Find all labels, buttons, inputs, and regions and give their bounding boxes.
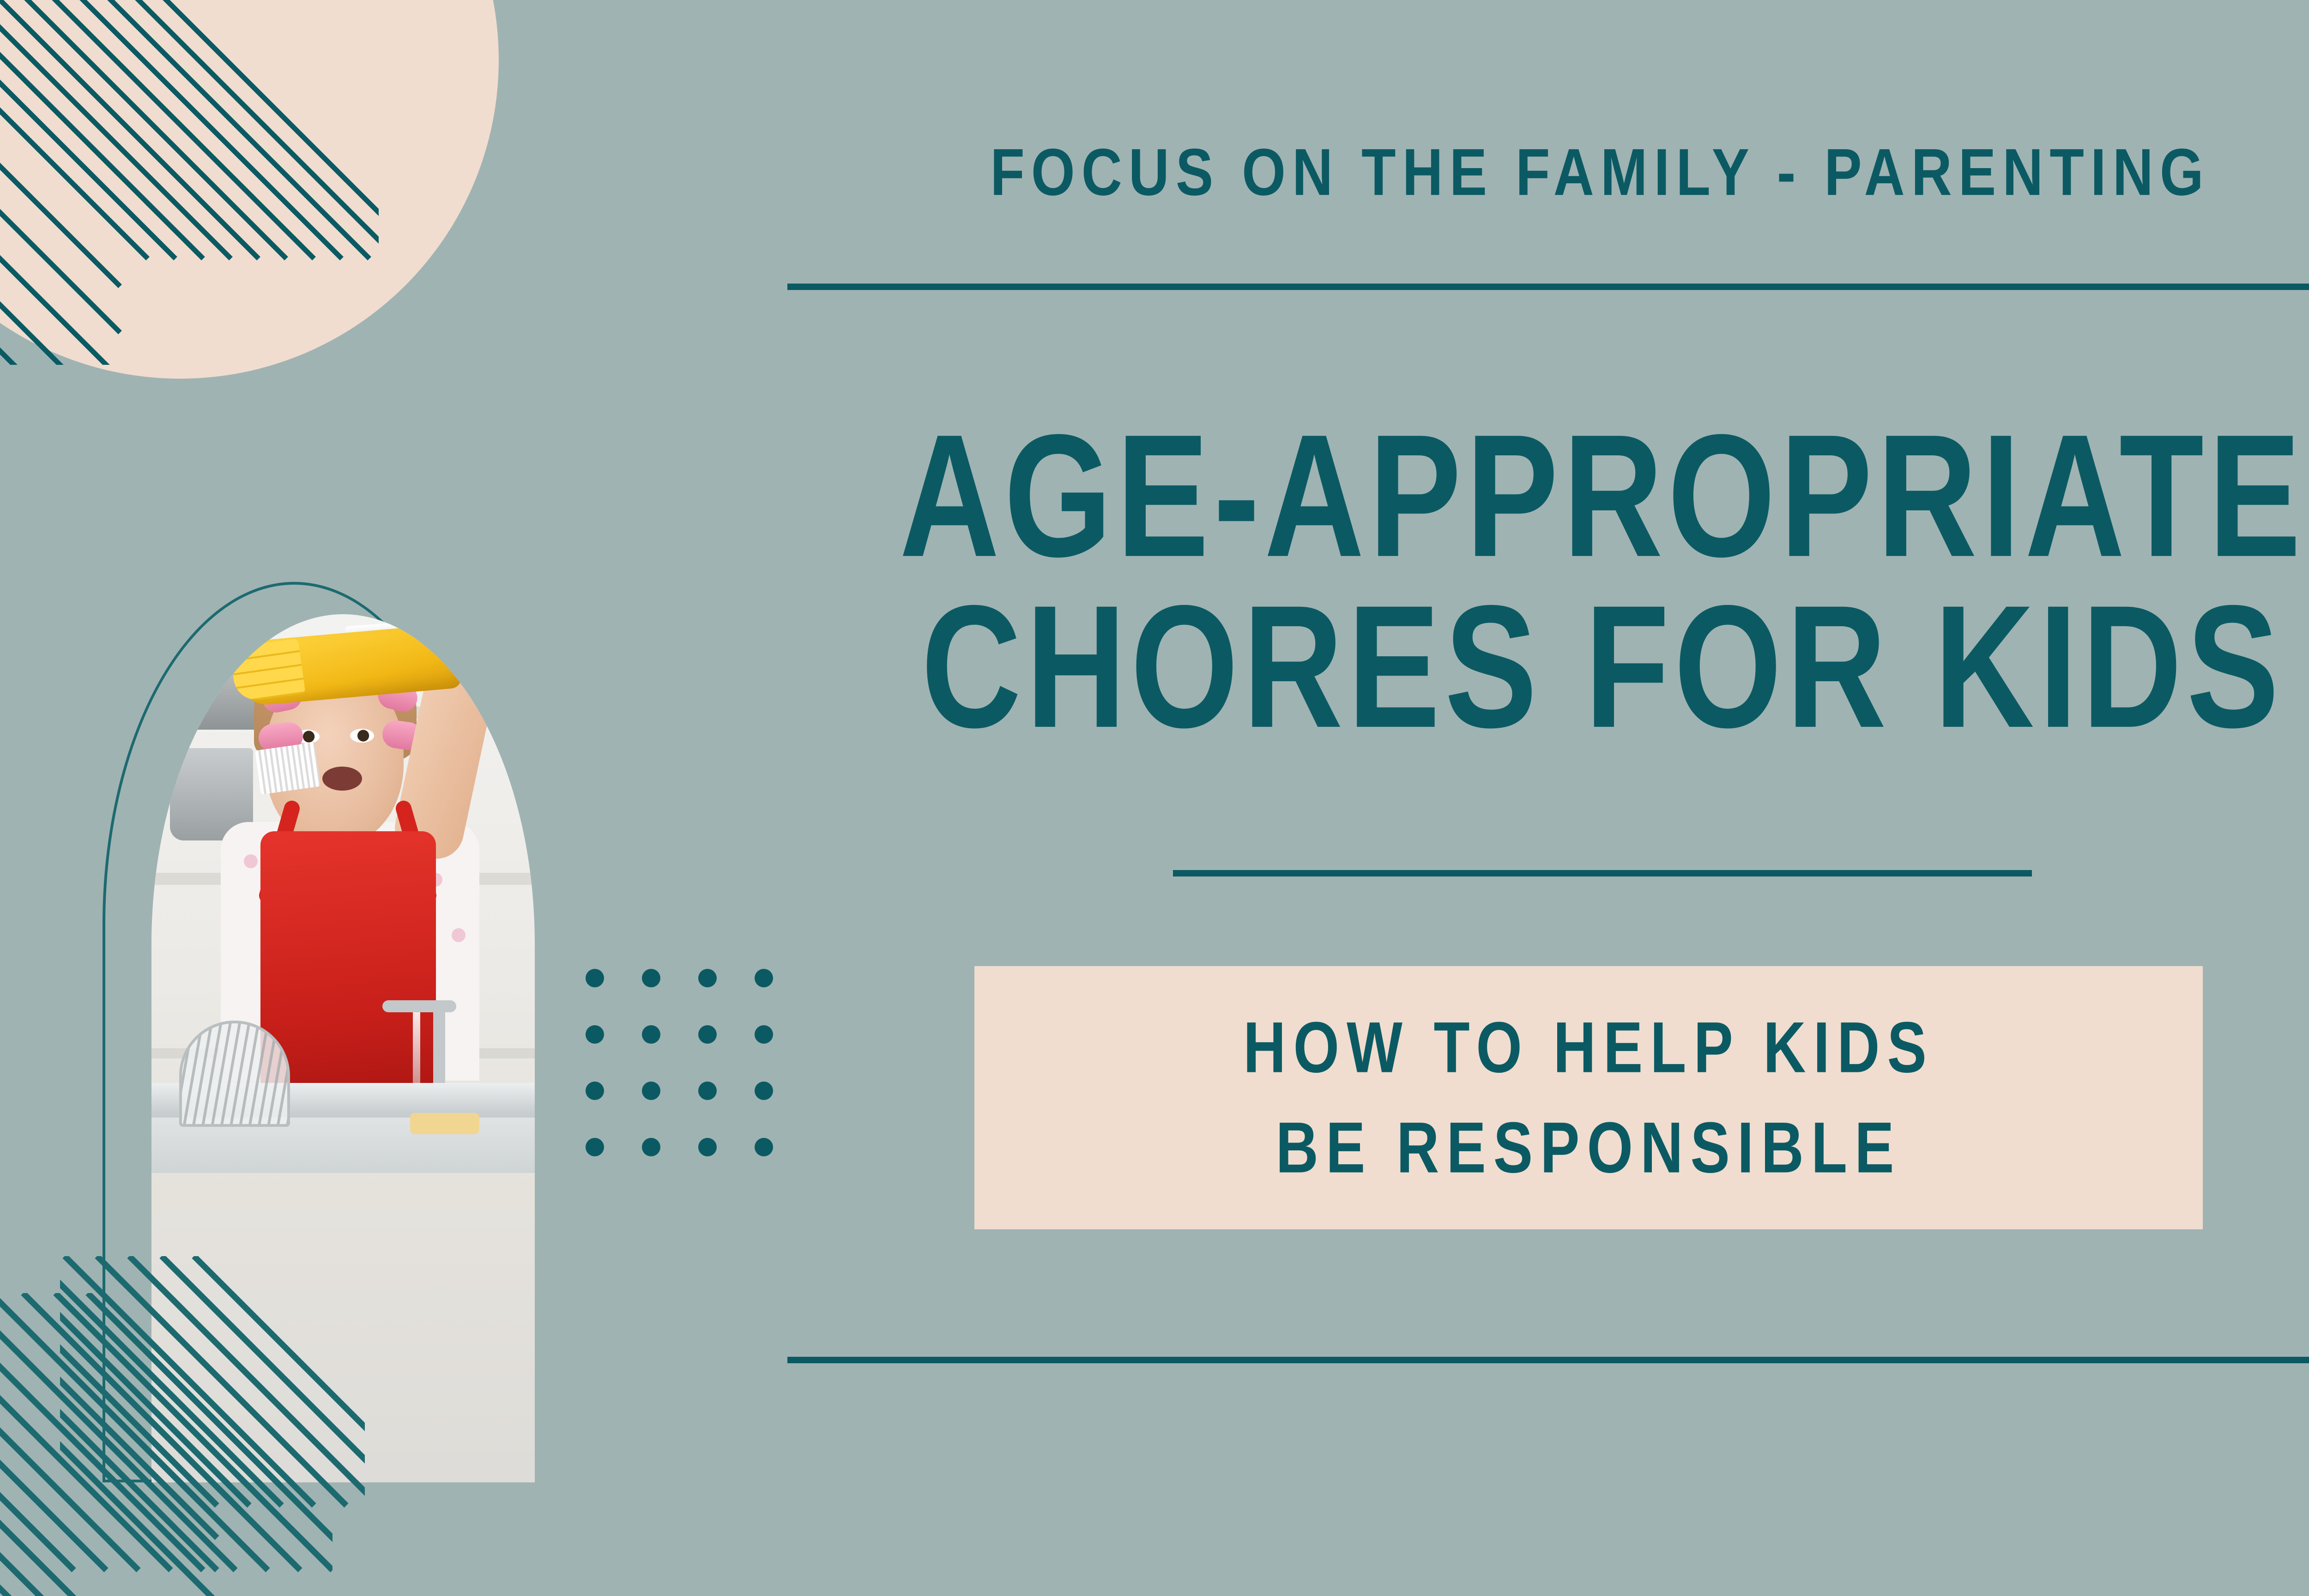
page-title-line-2: CHORES FOR KIDS (739, 577, 2309, 756)
dot (755, 1025, 773, 1044)
dot (698, 1138, 717, 1156)
dot (698, 1082, 717, 1100)
dot (698, 969, 717, 987)
subtitle-line-1: HOW TO HELP KIDS (1243, 1006, 1934, 1089)
divider-middle (1173, 870, 2032, 877)
dot (755, 1082, 773, 1100)
dot (642, 1138, 660, 1156)
dot (698, 1025, 717, 1044)
poster-canvas: FOCUS ON THE FAMILY - PARENTING AGE-APPR… (0, 0, 2309, 1596)
page-title-line-1: AGE-APPROPRIATE (739, 406, 2309, 585)
dot (586, 1138, 604, 1156)
divider-top (787, 284, 2309, 290)
dot-grid-center-left (586, 969, 811, 1194)
kicker-text: FOCUS ON THE FAMILY - PARENTING (787, 134, 2309, 210)
diagonal-stripes-bottom-left-overlay (60, 1256, 365, 1596)
dot (755, 969, 773, 987)
subtitle-banner: HOW TO HELP KIDS BE RESPONSIBLE (974, 966, 2203, 1229)
subtitle-line-2: BE RESPONSIBLE (1276, 1106, 1902, 1189)
dot (642, 1025, 660, 1044)
dot (586, 1082, 604, 1100)
divider-bottom (787, 1357, 2309, 1363)
dot (642, 969, 660, 987)
dot (586, 1025, 604, 1044)
dot (755, 1138, 773, 1156)
dot (586, 969, 604, 987)
diagonal-stripes-top-left (0, 0, 379, 365)
dot (642, 1082, 660, 1100)
